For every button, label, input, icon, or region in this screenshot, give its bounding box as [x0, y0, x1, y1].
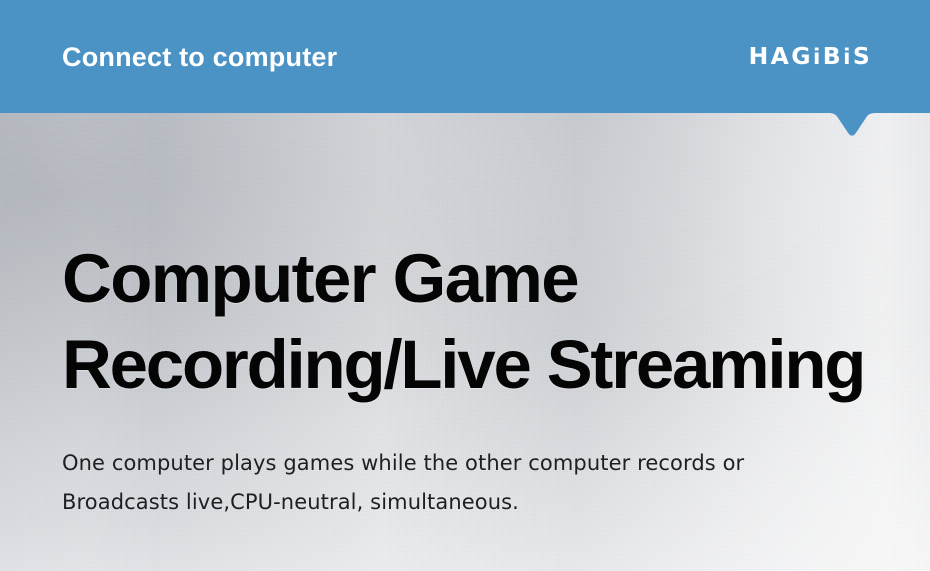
header-bar: Connect to computer HAGiBiS [0, 0, 930, 113]
page-title: Connect to computer [62, 41, 337, 73]
logo-text-hag: HAG [748, 44, 812, 70]
hagibis-logo: HAGiBiS [748, 44, 872, 70]
hero-content: Computer Game Recording/Live Streaming O… [0, 113, 930, 571]
product-banner: Connect to computer HAGiBiS Computer Gam… [0, 0, 930, 571]
hero-heading: Computer Game Recording/Live Streaming [62, 236, 892, 408]
logo-text-s: S [853, 44, 872, 70]
notch-shape-icon [826, 112, 878, 138]
logo-text-b: B [823, 44, 843, 70]
hero-heading-line-1: Computer Game [62, 236, 892, 322]
hero-subtitle: One computer plays games while the other… [62, 444, 862, 522]
hero-subtitle-line-2: Broadcasts live,CPU-neutral, simultaneou… [62, 483, 862, 522]
hero-subtitle-line-1: One computer plays games while the other… [62, 444, 862, 483]
logo-text-i1: i [813, 45, 823, 69]
header-notch-tab [826, 112, 878, 138]
hero-heading-line-2: Recording/Live Streaming [62, 322, 892, 408]
logo-text-i2: i [843, 45, 853, 69]
